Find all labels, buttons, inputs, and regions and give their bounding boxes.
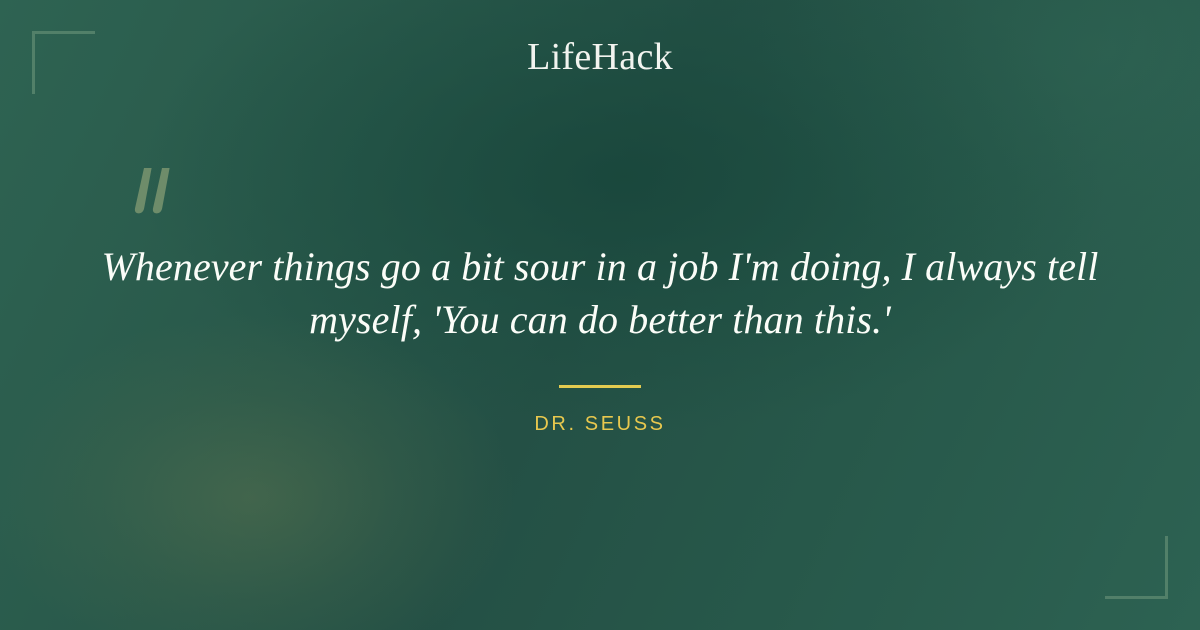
brand-logo-text: LifeHack	[527, 36, 673, 78]
double-quote-icon	[131, 166, 183, 222]
corner-bracket-bottom-right-icon	[1105, 536, 1168, 599]
quote-body: Whenever things go a bit sour in a job I…	[0, 240, 1200, 346]
author-block: DR. SEUSS	[0, 414, 1200, 435]
brand-header: LifeHack	[0, 38, 1200, 76]
quote-divider	[559, 385, 641, 388]
quote-card: LifeHack Whenever things go a bit sour i…	[0, 0, 1200, 630]
author-name: DR. SEUSS	[534, 413, 665, 435]
quote-text: Whenever things go a bit sour in a job I…	[100, 240, 1100, 346]
